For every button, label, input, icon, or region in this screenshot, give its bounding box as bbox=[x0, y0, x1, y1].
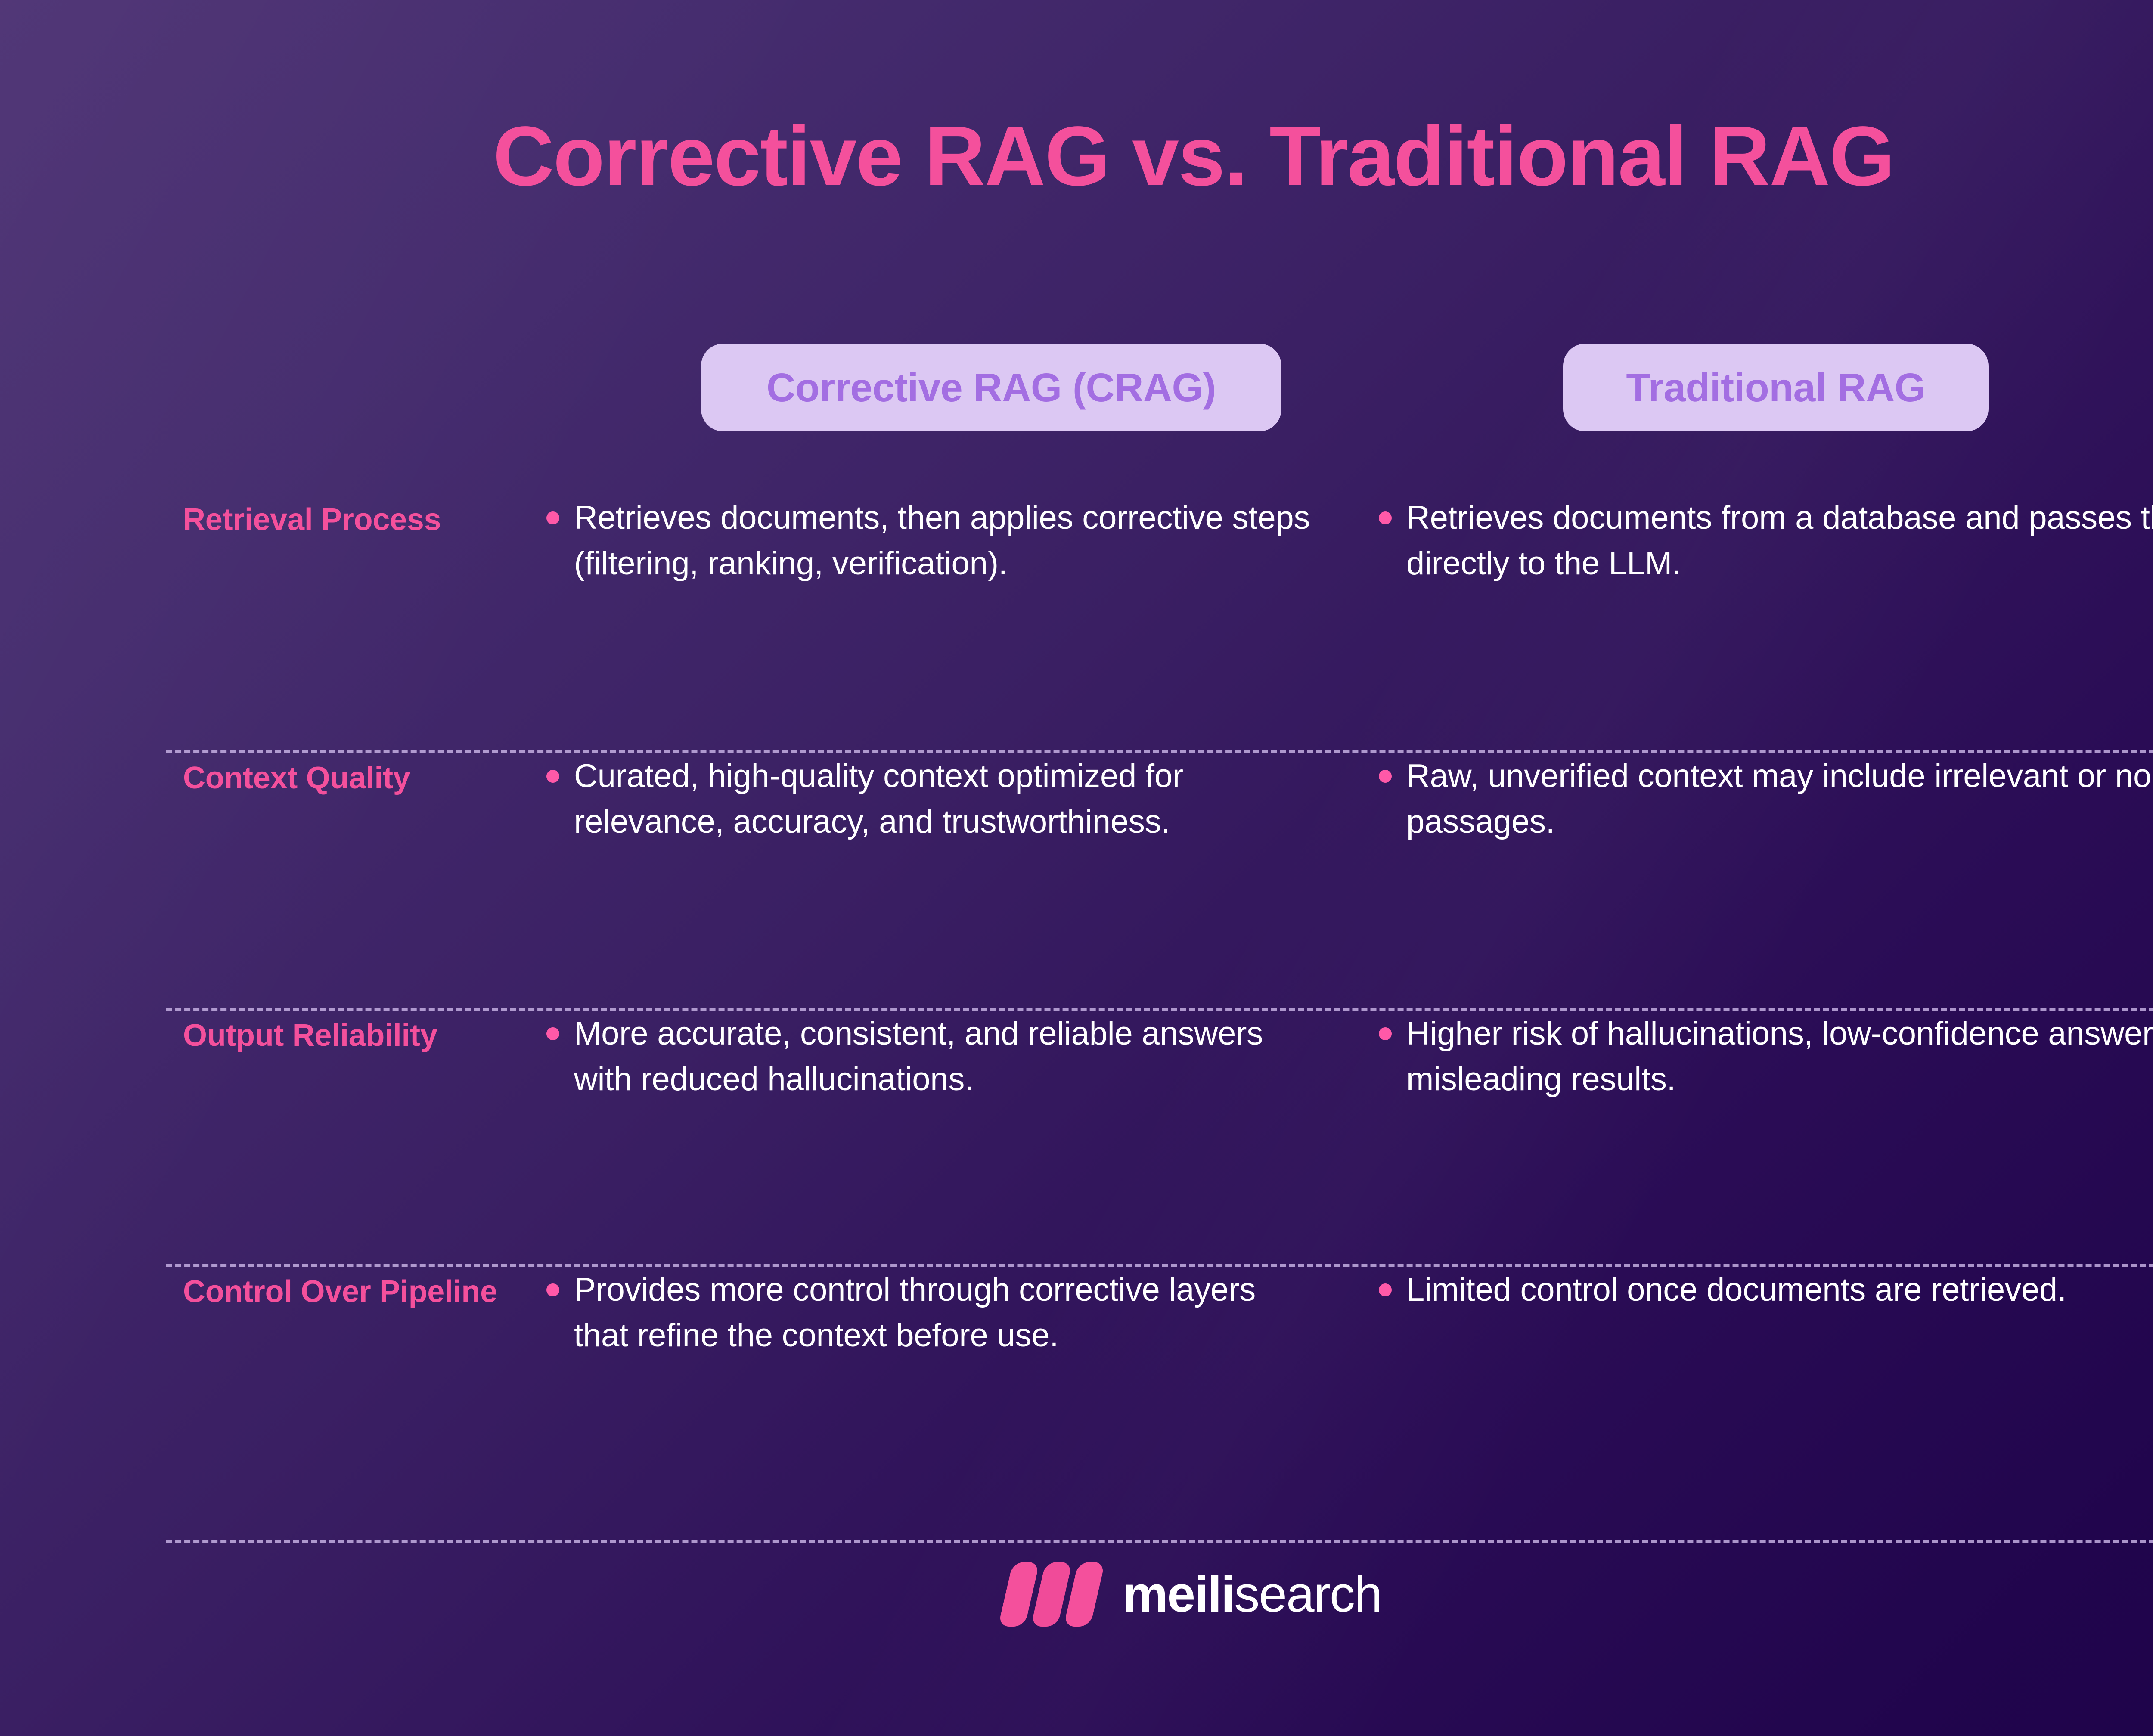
row-divider bbox=[166, 1008, 2153, 1011]
bullet-icon bbox=[546, 1027, 559, 1040]
infographic-page: Corrective RAG vs. Traditional RAG Corre… bbox=[0, 0, 2153, 1736]
table-row: Retrieval Process Retrieves documents, t… bbox=[0, 495, 2153, 753]
column-header-crag: Corrective RAG (CRAG) bbox=[701, 344, 1281, 431]
bullet-icon bbox=[546, 770, 559, 783]
meilisearch-slashes-icon bbox=[1005, 1562, 1098, 1627]
row-label: Output Reliability bbox=[183, 1018, 437, 1053]
table-row: Context Quality Curated, high-quality co… bbox=[0, 753, 2153, 1011]
row-cell-crag-text: More accurate, consistent, and reliable … bbox=[574, 1011, 1315, 1103]
row-divider bbox=[166, 750, 2153, 753]
row-cell-traditional: Higher risk of hallucinations, low-confi… bbox=[1367, 1011, 2153, 1103]
row-label-cell: Control Over Pipeline bbox=[0, 1267, 536, 1309]
bullet-icon bbox=[1379, 770, 1392, 783]
row-label-cell: Retrieval Process bbox=[0, 495, 536, 537]
brand-name-light: search bbox=[1234, 1565, 1381, 1624]
meilisearch-logo: meilisearch bbox=[1005, 1562, 1381, 1627]
table-row: Control Over Pipeline Provides more cont… bbox=[0, 1267, 2153, 1543]
row-cell-crag: Retrieves documents, then applies correc… bbox=[536, 495, 1367, 587]
footer: meilisearch bbox=[0, 1562, 2153, 1627]
row-divider bbox=[166, 1540, 2153, 1543]
row-cell-crag: Provides more control through corrective… bbox=[536, 1267, 1367, 1359]
row-label: Retrieval Process bbox=[183, 502, 441, 537]
column-header-traditional-label: Traditional RAG bbox=[1626, 365, 1925, 411]
comparison-table: Retrieval Process Retrieves documents, t… bbox=[0, 495, 2153, 1543]
row-label: Context Quality bbox=[183, 761, 410, 795]
row-cell-traditional: Limited control once documents are retri… bbox=[1367, 1267, 2153, 1313]
bullet-icon bbox=[546, 1283, 559, 1296]
row-label-cell: Output Reliability bbox=[0, 1011, 536, 1053]
row-cell-traditional: Retrieves documents from a database and … bbox=[1367, 495, 2153, 587]
table-row: Output Reliability More accurate, consis… bbox=[0, 1011, 2153, 1267]
row-cell-traditional-text: Retrieves documents from a database and … bbox=[1406, 495, 2153, 587]
row-cell-traditional-text: Limited control once documents are retri… bbox=[1406, 1267, 2066, 1313]
row-label-cell: Context Quality bbox=[0, 753, 536, 796]
row-label: Control Over Pipeline bbox=[183, 1274, 497, 1309]
row-cell-crag: Curated, high-quality context optimized … bbox=[536, 753, 1367, 845]
bullet-icon bbox=[1379, 1027, 1392, 1040]
column-header-crag-label: Corrective RAG (CRAG) bbox=[766, 365, 1216, 411]
row-cell-crag-text: Curated, high-quality context optimized … bbox=[574, 753, 1315, 845]
row-cell-traditional-text: Higher risk of hallucinations, low-confi… bbox=[1406, 1011, 2153, 1103]
column-header-traditional: Traditional RAG bbox=[1563, 344, 1989, 431]
brand-wordmark: meilisearch bbox=[1123, 1565, 1381, 1624]
row-cell-crag: More accurate, consistent, and reliable … bbox=[536, 1011, 1367, 1103]
row-divider bbox=[166, 1264, 2153, 1267]
page-title: Corrective RAG vs. Traditional RAG bbox=[0, 108, 2153, 205]
row-cell-traditional: Raw, unverified context may include irre… bbox=[1367, 753, 2153, 845]
bullet-icon bbox=[1379, 512, 1392, 524]
brand-name-bold: meili bbox=[1123, 1565, 1234, 1624]
row-cell-traditional-text: Raw, unverified context may include irre… bbox=[1406, 753, 2153, 845]
row-cell-crag-text: Retrieves documents, then applies correc… bbox=[574, 495, 1315, 587]
bullet-icon bbox=[1379, 1283, 1392, 1296]
bullet-icon bbox=[546, 512, 559, 524]
row-cell-crag-text: Provides more control through corrective… bbox=[574, 1267, 1315, 1359]
